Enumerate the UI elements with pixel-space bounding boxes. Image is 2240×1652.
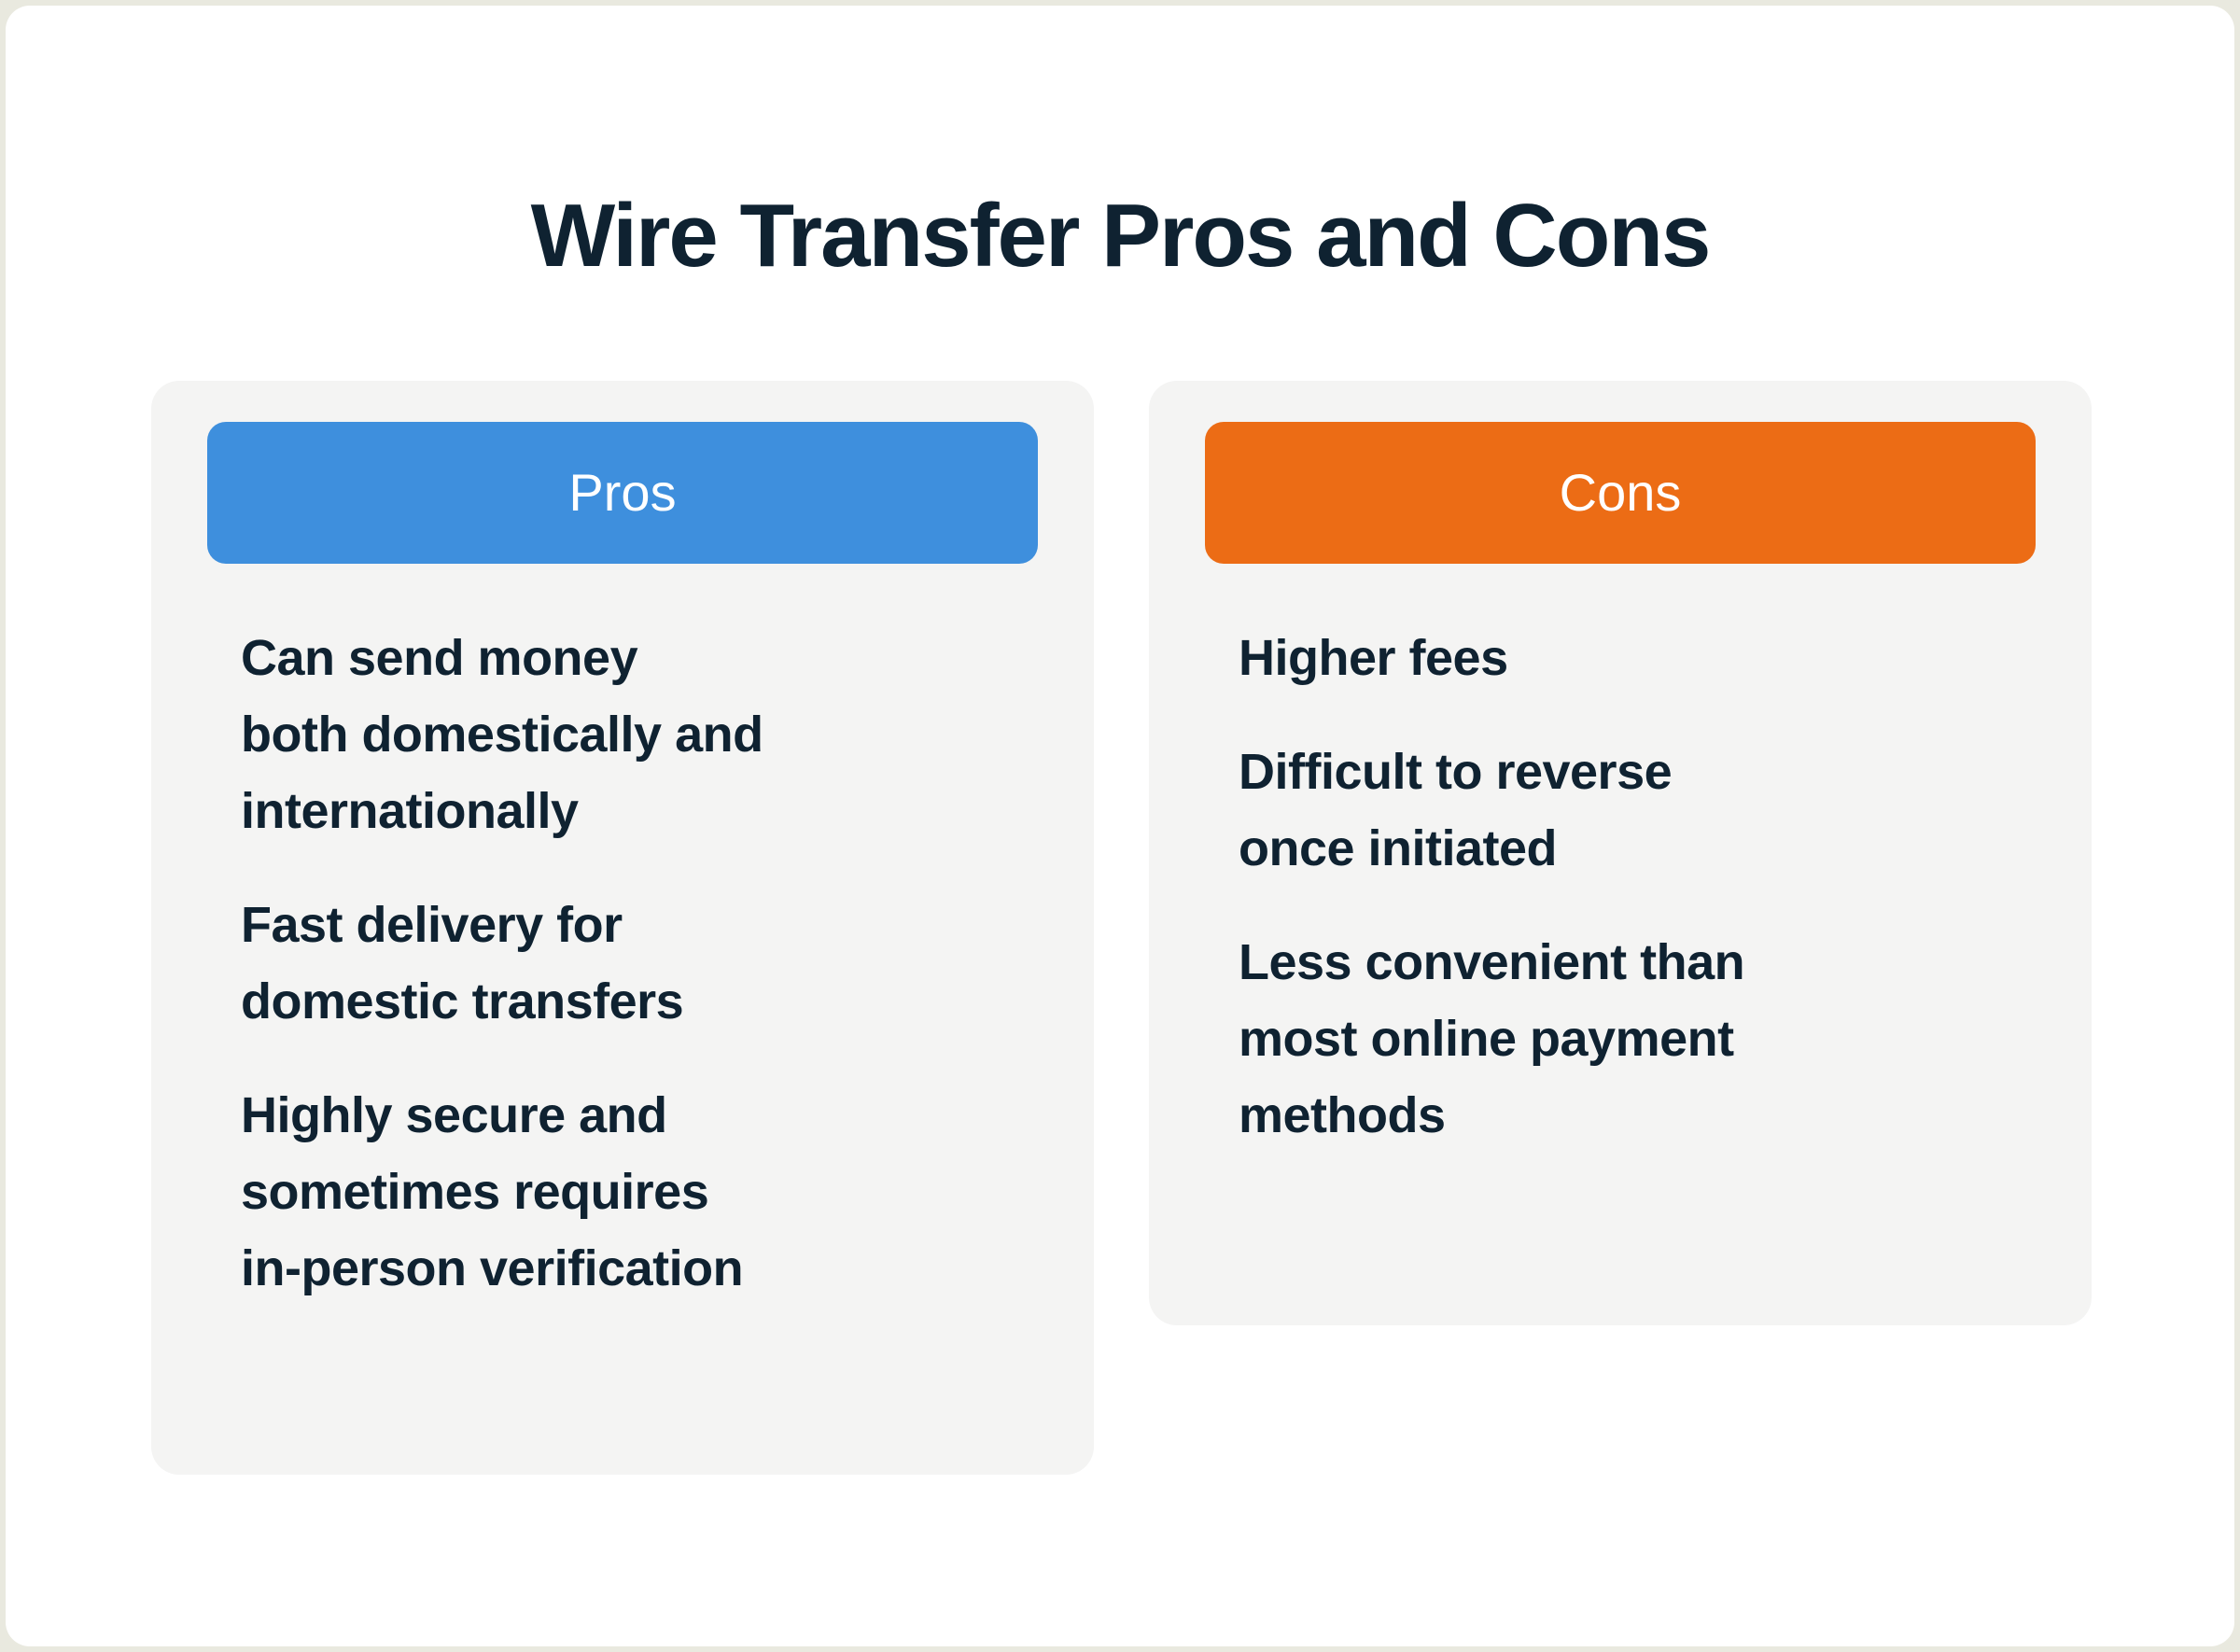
list-item: Can send money both domestically and int… [241,620,1053,849]
list-item: Less convenient than most online payment… [1239,924,2051,1154]
page-border: Wire Transfer Pros and Cons Pros Can sen… [0,0,2240,1652]
list-item: Fast delivery for domestic transfers [241,887,1053,1040]
pros-badge: Pros [207,422,1038,564]
cons-card: Cons Higher fees Difficult to reverse on… [1149,381,2092,1325]
pros-cons-columns: Pros Can send money both domestically an… [6,381,2234,1501]
cons-item-list: Higher fees Difficult to reverse once in… [1239,620,2051,1154]
cons-badge-label: Cons [1560,465,1682,521]
page-title: Wire Transfer Pros and Cons [6,185,2234,287]
cons-badge: Cons [1205,422,2036,564]
pros-card: Pros Can send money both domestically an… [151,381,1094,1475]
list-item: Difficult to reverse once initiated [1239,734,2051,887]
page-surface: Wire Transfer Pros and Cons Pros Can sen… [6,6,2234,1646]
pros-badge-label: Pros [568,465,676,521]
pros-item-list: Can send money both domestically and int… [241,620,1053,1307]
list-item: Higher fees [1239,620,2051,696]
list-item: Highly secure and sometimes requires in-… [241,1077,1053,1307]
